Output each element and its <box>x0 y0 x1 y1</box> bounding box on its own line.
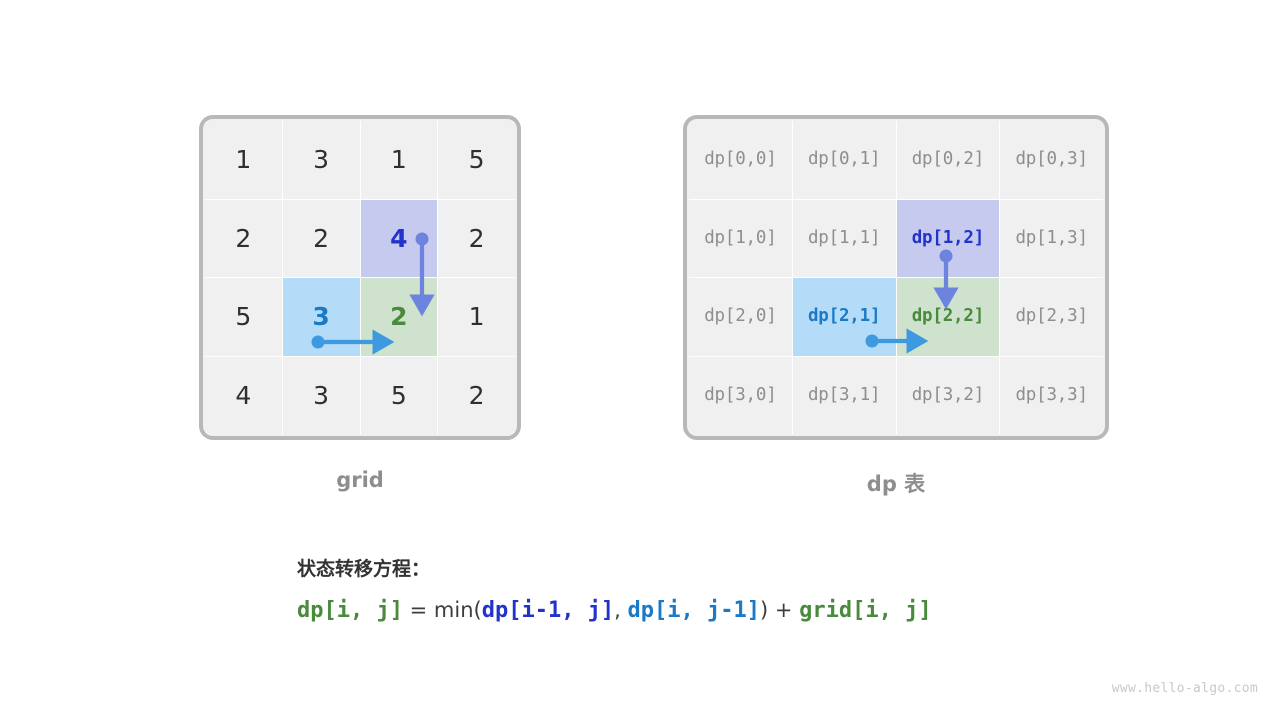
formula-seg-dp-i-jm1: dp[i, j-1] <box>628 598 760 623</box>
grid-cell-value: 4 <box>390 226 407 251</box>
dp-cell-1-2: dp[1,2] <box>897 200 1000 278</box>
dp-cell-label: dp[2,0] <box>704 308 776 326</box>
grid-cell-value: 2 <box>469 383 485 408</box>
formula-seg-eq-min: = min( <box>403 598 482 622</box>
dp-cell-label: dp[1,2] <box>912 230 984 248</box>
formula-seg-grid-ij: grid[i, j] <box>799 598 931 623</box>
dp-cell-label: dp[1,3] <box>1015 230 1087 248</box>
grid-cell-3-2: 5 <box>361 357 438 435</box>
grid-cell-0-0: 1 <box>205 121 282 199</box>
grid-caption: grid <box>199 468 521 492</box>
grid-cell-value: 2 <box>469 226 485 251</box>
grid-cell-0-2: 1 <box>361 121 438 199</box>
dp-cell-2-3: dp[2,3] <box>1000 278 1103 356</box>
grid-cell-value: 4 <box>235 383 251 408</box>
grid-cell-2-2: 2 <box>361 278 438 356</box>
grid-cell-value: 3 <box>313 383 329 408</box>
grid-cell-2-1: 3 <box>283 278 360 356</box>
grid-cell-value: 1 <box>391 147 407 172</box>
dp-cell-0-3: dp[0,3] <box>1000 121 1103 199</box>
grid-cell-value: 1 <box>469 304 485 329</box>
grid-cell-value: 3 <box>312 304 329 329</box>
grid-cells-container: 1 3 1 5 2 2 4 2 5 3 2 1 4 3 5 2 <box>205 121 515 434</box>
grid-cell-0-3: 5 <box>438 121 515 199</box>
formula-block: 状态转移方程： dp[i, j] = min(dp[i-1, j], dp[i,… <box>297 558 932 624</box>
dp-cell-label: dp[1,0] <box>704 230 776 248</box>
grid-cell-value: 5 <box>235 304 251 329</box>
formula-seg-comma: , <box>614 598 627 622</box>
grid-cell-1-3: 2 <box>438 200 515 278</box>
dp-cell-label: dp[3,1] <box>808 387 880 405</box>
grid-cell-1-0: 2 <box>205 200 282 278</box>
dp-cell-label: dp[2,1] <box>808 308 880 326</box>
formula-seg-dp-ij: dp[i, j] <box>297 598 403 623</box>
dp-cell-0-0: dp[0,0] <box>689 121 792 199</box>
dp-cell-label: dp[0,1] <box>808 151 880 169</box>
formula-seg-dp-im1-j: dp[i-1, j] <box>482 598 614 623</box>
grid-table: 1 3 1 5 2 2 4 2 5 3 2 1 4 3 5 2 <box>199 115 521 440</box>
grid-cell-value: 1 <box>235 147 251 172</box>
grid-cell-value: 2 <box>235 226 251 251</box>
grid-cell-value: 3 <box>313 147 329 172</box>
dp-cell-2-2: dp[2,2] <box>897 278 1000 356</box>
grid-cell-value: 2 <box>390 304 407 329</box>
watermark: www.hello-algo.com <box>1112 681 1258 696</box>
dp-cell-2-0: dp[2,0] <box>689 278 792 356</box>
grid-cell-2-0: 5 <box>205 278 282 356</box>
dp-cell-label: dp[3,2] <box>912 387 984 405</box>
grid-cell-value: 2 <box>313 226 329 251</box>
dp-cell-2-1: dp[2,1] <box>793 278 896 356</box>
dp-cell-3-0: dp[3,0] <box>689 357 792 435</box>
dp-cell-label: dp[2,2] <box>912 308 984 326</box>
dp-cell-3-1: dp[3,1] <box>793 357 896 435</box>
formula-seg-close-plus: ) + <box>760 598 799 622</box>
dp-cell-label: dp[0,3] <box>1015 151 1087 169</box>
dp-cell-0-2: dp[0,2] <box>897 121 1000 199</box>
grid-cell-value: 5 <box>469 147 485 172</box>
formula-title: 状态转移方程： <box>297 558 932 581</box>
grid-cell-3-0: 4 <box>205 357 282 435</box>
grid-cell-0-1: 3 <box>283 121 360 199</box>
dp-cell-label: dp[1,1] <box>808 230 880 248</box>
dp-cell-label: dp[3,0] <box>704 387 776 405</box>
dp-cells-container: dp[0,0] dp[0,1] dp[0,2] dp[0,3] dp[1,0] … <box>689 121 1103 434</box>
dp-table: dp[0,0] dp[0,1] dp[0,2] dp[0,3] dp[1,0] … <box>683 115 1109 440</box>
dp-cell-label: dp[3,3] <box>1015 387 1087 405</box>
dp-cell-1-0: dp[1,0] <box>689 200 792 278</box>
grid-cell-3-3: 2 <box>438 357 515 435</box>
grid-cell-3-1: 3 <box>283 357 360 435</box>
grid-cell-value: 5 <box>391 383 407 408</box>
formula-equation: dp[i, j] = min(dp[i-1, j], dp[i, j-1]) +… <box>297 598 932 624</box>
dp-cell-1-3: dp[1,3] <box>1000 200 1103 278</box>
dp-caption: dp 表 <box>683 468 1109 498</box>
dp-cell-3-2: dp[3,2] <box>897 357 1000 435</box>
dp-cell-0-1: dp[0,1] <box>793 121 896 199</box>
dp-cell-label: dp[0,0] <box>704 151 776 169</box>
grid-cell-1-2: 4 <box>361 200 438 278</box>
dp-cell-1-1: dp[1,1] <box>793 200 896 278</box>
dp-cell-3-3: dp[3,3] <box>1000 357 1103 435</box>
dp-cell-label: dp[0,2] <box>912 151 984 169</box>
grid-cell-1-1: 2 <box>283 200 360 278</box>
grid-cell-2-3: 1 <box>438 278 515 356</box>
dp-cell-label: dp[2,3] <box>1015 308 1087 326</box>
